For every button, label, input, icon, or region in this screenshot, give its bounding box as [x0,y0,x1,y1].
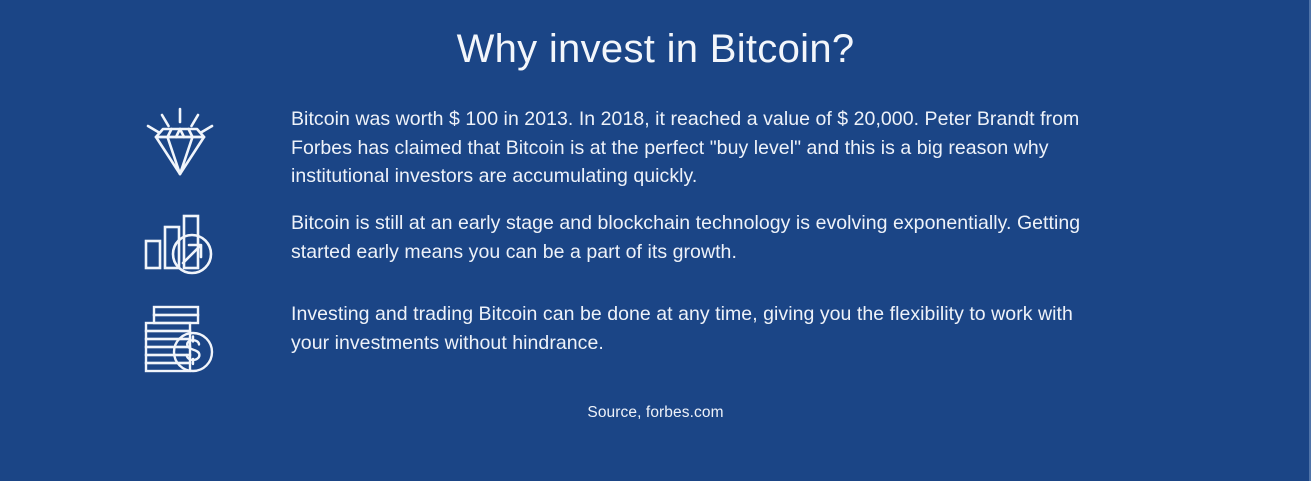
bar-chart-growth-arrow-icon [130,209,230,277]
benefit-text-cell: Bitcoin is still at an early stage and b… [230,209,1130,266]
benefit-paragraph: Bitcoin was worth $ 100 in 2013. In 2018… [291,105,1106,191]
stacked-coins-dollar-icon [130,300,230,374]
source-caption: Source, forbes.com [0,404,1311,422]
benefit-paragraph: Bitcoin is still at an early stage and b… [291,209,1106,266]
slide-canvas: Why invest in Bitcoin? Bitcoin was [0,0,1311,481]
benefit-row: Investing and trading Bitcoin can be don… [130,300,1130,374]
benefit-text-cell: Bitcoin was worth $ 100 in 2013. In 2018… [230,105,1130,191]
benefit-row: Bitcoin was worth $ 100 in 2013. In 2018… [130,105,1130,191]
benefit-text-cell: Investing and trading Bitcoin can be don… [230,300,1130,357]
page-title: Why invest in Bitcoin? [0,26,1311,72]
diamond-gem-icon [130,105,230,177]
benefit-paragraph: Investing and trading Bitcoin can be don… [291,300,1106,357]
benefit-row: Bitcoin is still at an early stage and b… [130,209,1130,277]
